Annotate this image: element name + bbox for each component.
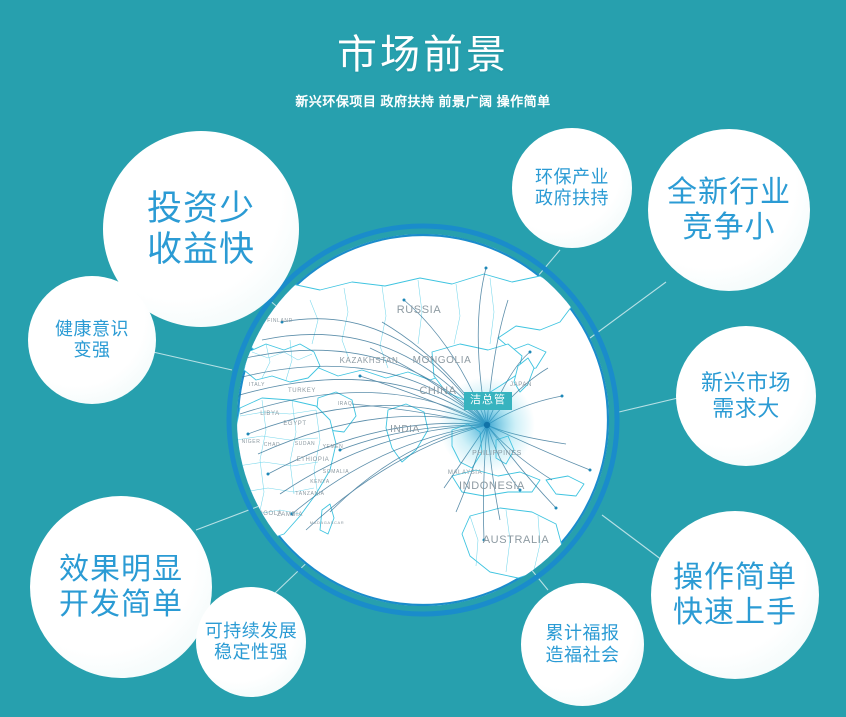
map-label: KAZAKHSTAN bbox=[340, 356, 399, 365]
map-label: SUDAN bbox=[295, 441, 316, 447]
map-label: NIGER bbox=[242, 439, 261, 445]
bubble-invest-line1: 投资少 bbox=[147, 188, 255, 229]
bubble-sustain-line2: 稳定性强 bbox=[214, 642, 288, 663]
bubble-welfare-line2: 造福社会 bbox=[546, 645, 620, 666]
bubble-health-line1: 健康意识 bbox=[55, 319, 129, 340]
map-label: KENYA bbox=[310, 479, 330, 485]
bubble-easy-operation[interactable]: 操作简单 快速上手 bbox=[651, 511, 819, 679]
map-label: INDONESIA bbox=[459, 480, 525, 492]
map-label: LIBYA bbox=[260, 411, 280, 417]
bubble-effect-line1: 效果明显 bbox=[59, 552, 183, 587]
bubble-health-line2: 变强 bbox=[74, 340, 111, 361]
bubble-new-industry[interactable]: 全新行业 竞争小 bbox=[648, 129, 810, 291]
map-label: EGYPT bbox=[283, 421, 306, 427]
bubble-welfare[interactable]: 累计福报 造福社会 bbox=[521, 583, 644, 706]
map-label: MADAGASCAR bbox=[310, 520, 344, 525]
bubble-new-industry-line2: 竞争小 bbox=[683, 210, 776, 245]
map-label: ETHIOPIA bbox=[297, 457, 330, 463]
bubble-health-awareness[interactable]: 健康意识 变强 bbox=[28, 276, 156, 404]
map-label: IRAQ bbox=[338, 401, 353, 407]
map-label: YEMEN bbox=[323, 444, 344, 450]
bubble-emerging-market[interactable]: 新兴市场 需求大 bbox=[676, 326, 816, 466]
bubble-industry[interactable]: 环保产业 政府扶持 bbox=[512, 128, 632, 248]
bubble-easy-line1: 操作简单 bbox=[673, 560, 797, 595]
map-label: JAPAN bbox=[510, 382, 532, 388]
map-label: MALAYSIA bbox=[448, 470, 482, 476]
map-label: MONGOLIA bbox=[413, 355, 472, 366]
map-label: CHINA bbox=[419, 385, 456, 397]
map-label: PHILIPPINES bbox=[472, 450, 522, 457]
bubble-invest-line2: 收益快 bbox=[147, 229, 255, 270]
bubble-easy-line2: 快速上手 bbox=[673, 595, 797, 630]
map-label: AUSTRALIA bbox=[483, 534, 550, 546]
map-label: TANZANIA bbox=[295, 491, 324, 497]
bubble-welfare-line1: 累计福报 bbox=[546, 623, 620, 644]
hub-badge: 洁总管 bbox=[464, 392, 512, 410]
map-label: FINLAND bbox=[267, 318, 293, 324]
map-label: ZAMBIA bbox=[277, 512, 303, 518]
bubble-industry-line1: 环保产业 bbox=[535, 167, 609, 188]
map-label: TURKEY bbox=[288, 388, 316, 394]
map-label: SOMALIA bbox=[323, 469, 349, 475]
infographic-canvas: 市场前景 新兴环保项目 政府扶持 前景广阔 操作简单 bbox=[0, 0, 846, 717]
map-label: INDIA bbox=[390, 424, 420, 435]
bubble-sustainable[interactable]: 可持续发展 稳定性强 bbox=[196, 587, 306, 697]
hub-point bbox=[484, 422, 490, 428]
bubble-market-line2: 需求大 bbox=[712, 396, 780, 422]
map-label: ITALY bbox=[249, 382, 265, 388]
bubble-sustain-line1: 可持续发展 bbox=[205, 621, 298, 642]
map-label: CHAD bbox=[264, 442, 281, 448]
bubble-effect[interactable]: 效果明显 开发简单 bbox=[30, 496, 212, 678]
bubble-effect-line2: 开发简单 bbox=[59, 587, 183, 622]
bubble-industry-line2: 政府扶持 bbox=[535, 188, 609, 209]
map-label: RUSSIA bbox=[397, 304, 442, 316]
bubble-new-industry-line1: 全新行业 bbox=[667, 175, 791, 210]
bubble-market-line1: 新兴市场 bbox=[701, 370, 791, 396]
